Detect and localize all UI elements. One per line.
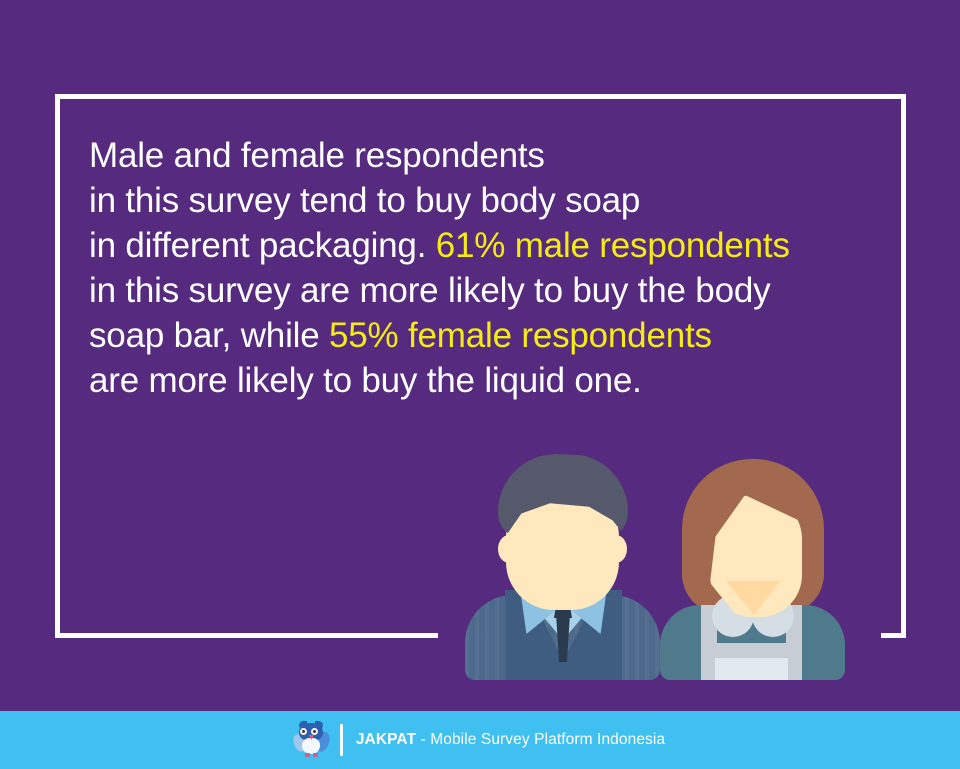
headline-line-5-prefix: soap bar, while <box>89 316 329 355</box>
male-respondent-figure <box>465 450 660 680</box>
owl-belly <box>302 738 320 754</box>
owl-pupil-left <box>302 730 305 733</box>
footer-divider <box>340 724 343 756</box>
headline-text: Male and female respondents in this surv… <box>89 133 889 403</box>
infographic-poster: Male and female respondents in this surv… <box>0 0 960 769</box>
headline-line-3-prefix: in different packaging. <box>89 226 436 265</box>
stat-female-highlight: 55% female respondents <box>329 316 712 355</box>
frame-border-top <box>55 94 906 99</box>
headline-line-6: are more likely to buy the liquid one. <box>89 361 642 400</box>
frame-border-bottom-left <box>55 633 438 638</box>
footer-brand-text: JAKPAT - Mobile Survey Platform Indonesi… <box>356 731 665 749</box>
headline-line-2: in this survey tend to buy body soap <box>89 181 640 220</box>
respondents-illustration <box>455 440 855 680</box>
frame-border-right <box>901 94 906 638</box>
stat-male-highlight: 61% male respondents <box>436 226 790 265</box>
owl-pupil-right <box>313 730 316 733</box>
owl-foot-left <box>305 753 310 757</box>
brand-name: JAKPAT <box>356 731 416 748</box>
frame-border-bottom-right <box>881 633 906 638</box>
footer-content: JAKPAT - Mobile Survey Platform Indonesi… <box>295 722 665 758</box>
footer-bar: JAKPAT - Mobile Survey Platform Indonesi… <box>0 711 960 769</box>
female-respondent-figure <box>660 455 845 680</box>
frame-border-left <box>55 94 60 638</box>
owl-foot-right <box>313 753 318 757</box>
headline-line-1: Male and female respondents <box>89 136 545 175</box>
headline-line-4: in this survey are more likely to buy th… <box>89 271 770 310</box>
brand-tagline: - Mobile Survey Platform Indonesia <box>416 731 665 748</box>
owl-icon <box>295 722 327 758</box>
female-apron-pocket <box>715 658 788 680</box>
